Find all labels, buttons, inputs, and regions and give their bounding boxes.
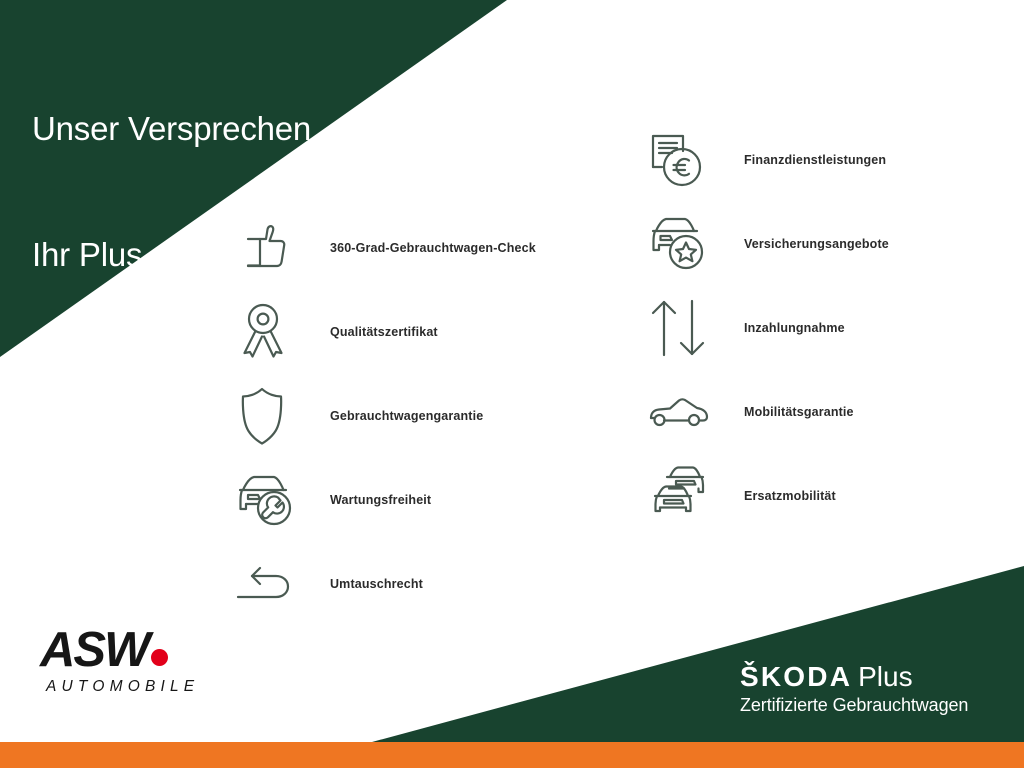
skoda-brand-name: ŠKODA (740, 661, 852, 692)
feature-label: Qualitätszertifikat (330, 325, 438, 339)
up-down-arrows-icon (648, 296, 714, 360)
promo-banner: Unser Versprechen. Ihr Plus. 360-Grad-Ge… (0, 0, 1024, 768)
feature-item-return-right: Umtauschrecht (236, 542, 576, 626)
feature-item-warranty: Gebrauchtwagengarantie (236, 374, 576, 458)
feature-item-quality-certificate: Qualitätszertifikat (236, 290, 576, 374)
asw-logo: ASW AUTOMOBILE (40, 624, 220, 696)
asw-wordmark-text: ASW (40, 623, 148, 677)
headline-line-1: Unser Versprechen. (32, 108, 320, 150)
feature-label: Finanzdienstleistungen (744, 153, 886, 167)
feature-item-trade-in: Inzahlungnahme (648, 286, 988, 370)
feature-label: Inzahlungnahme (744, 321, 845, 335)
skoda-plus-logo: ŠKODAPlus Zertifizierte Gebrauchtwagen (740, 662, 968, 716)
shield-icon (236, 384, 302, 448)
asw-red-dot-icon (151, 649, 168, 666)
feature-item-replacement-mobility: Ersatzmobilität (648, 454, 988, 538)
award-rosette-icon (236, 300, 302, 364)
feature-item-360-check: 360-Grad-Gebrauchtwagen-Check (236, 206, 576, 290)
feature-label: Versicherungsangebote (744, 237, 889, 251)
feature-label: Ersatzmobilität (744, 489, 836, 503)
skoda-plus-title-row: ŠKODAPlus (740, 662, 968, 692)
two-cars-icon (648, 464, 714, 528)
car-wrench-icon (236, 468, 302, 532)
feature-list-right: Finanzdienstleistungen Versicherungsange… (648, 118, 988, 538)
bottom-accent-bar (0, 742, 1024, 768)
return-arrow-icon (236, 552, 302, 616)
skoda-tagline: Zertifizierte Gebrauchtwagen (740, 694, 968, 716)
feature-item-insurance-offers: Versicherungsangebote (648, 202, 988, 286)
sports-car-icon (648, 380, 714, 444)
feature-label: 360-Grad-Gebrauchtwagen-Check (330, 241, 536, 255)
feature-label: Wartungsfreiheit (330, 493, 431, 507)
thumbs-up-icon (236, 216, 302, 280)
feature-label: Umtauschrecht (330, 577, 423, 591)
asw-subtitle: AUTOMOBILE (46, 678, 220, 696)
feature-label: Mobilitätsgarantie (744, 405, 854, 419)
asw-wordmark-row: ASW (40, 624, 220, 676)
car-star-icon (648, 212, 714, 276)
feature-item-financial-services: Finanzdienstleistungen (648, 118, 988, 202)
feature-label: Gebrauchtwagengarantie (330, 409, 483, 423)
feature-list-left: 360-Grad-Gebrauchtwagen-Check Qualitätsz… (236, 206, 576, 626)
document-euro-icon (648, 128, 714, 192)
skoda-plus-word: Plus (858, 661, 912, 692)
feature-item-maintenance-free: Wartungsfreiheit (236, 458, 576, 542)
feature-item-mobility-guarantee: Mobilitätsgarantie (648, 370, 988, 454)
